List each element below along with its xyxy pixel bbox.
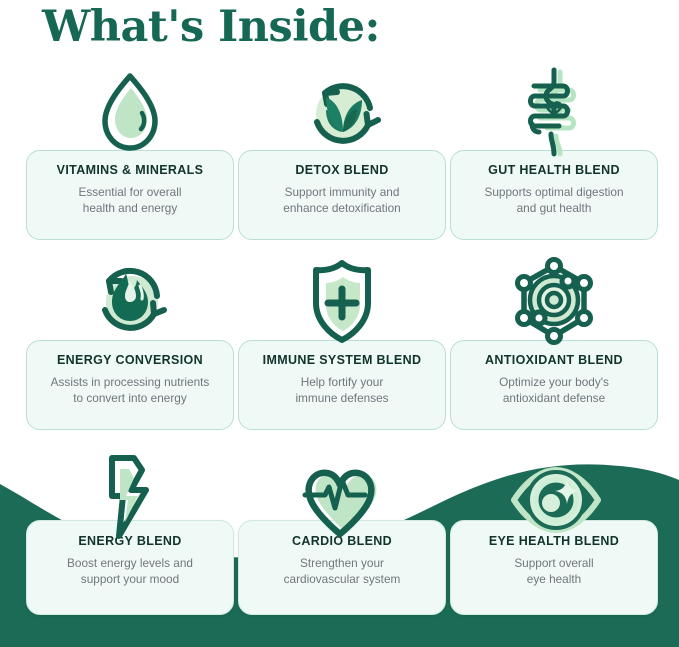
feature-cell-antioxidant-blend: ANTIOXIDANT BLEND Optimize your body's a… bbox=[450, 250, 658, 440]
card-description-line1: Support overall bbox=[514, 556, 593, 570]
card-description-line1: Support immunity and bbox=[285, 185, 400, 199]
feature-row-1: VITAMINS & MINERALS Essential for overal… bbox=[0, 60, 679, 250]
card-description-line1: Supports optimal digestion bbox=[484, 185, 623, 199]
water-droplet-icon bbox=[82, 64, 178, 160]
lightning-bolt-icon bbox=[82, 450, 178, 546]
card-description-line1: Essential for overall bbox=[79, 185, 182, 199]
card-description-line2: enhance detoxification bbox=[283, 201, 400, 215]
feature-cell-detox-blend: DETOX BLEND Support immunity and enhance… bbox=[238, 60, 446, 250]
card-description: Support immunity and enhance detoxificat… bbox=[277, 185, 406, 217]
card-description: Strengthen your cardiovascular system bbox=[278, 556, 407, 588]
card-description: Assists in processing nutrients to conve… bbox=[45, 375, 216, 407]
card-description: Supports optimal digestion and gut healt… bbox=[478, 185, 629, 217]
feature-card: VITAMINS & MINERALS Essential for overal… bbox=[26, 150, 234, 240]
page-title: What's Inside: bbox=[42, 2, 380, 52]
card-description-line2: health and energy bbox=[83, 201, 177, 215]
eye-sparkle-icon bbox=[506, 450, 602, 546]
card-description: Essential for overall health and energy bbox=[73, 185, 188, 217]
card-description-line1: Help fortify your bbox=[301, 375, 384, 389]
feature-cell-vitamins-minerals: VITAMINS & MINERALS Essential for overal… bbox=[26, 60, 234, 250]
card-description: Support overall eye health bbox=[508, 556, 599, 588]
card-title: GUT HEALTH BLEND bbox=[488, 164, 620, 178]
card-description: Help fortify your immune defenses bbox=[289, 375, 394, 407]
card-title: ANTIOXIDANT BLEND bbox=[485, 354, 623, 368]
card-description: Boost energy levels and support your moo… bbox=[61, 556, 199, 588]
card-description: Optimize your body's antioxidant defense bbox=[493, 375, 615, 407]
card-description-line2: eye health bbox=[527, 572, 581, 586]
feature-card: IMMUNE SYSTEM BLEND Help fortify your im… bbox=[238, 340, 446, 430]
feature-card: DETOX BLEND Support immunity and enhance… bbox=[238, 150, 446, 240]
feature-cell-immune-system-blend: IMMUNE SYSTEM BLEND Help fortify your im… bbox=[238, 250, 446, 440]
card-description-line2: cardiovascular system bbox=[284, 572, 401, 586]
card-description-line1: Strengthen your bbox=[300, 556, 384, 570]
card-description-line2: support your mood bbox=[81, 572, 179, 586]
feature-row-3: ENERGY BLEND Boost energy levels and sup… bbox=[0, 440, 679, 640]
feature-cell-eye-health-blend: EYE HEALTH BLEND Support overall eye hea… bbox=[450, 440, 658, 640]
card-title: IMMUNE SYSTEM BLEND bbox=[263, 354, 422, 368]
feature-cell-cardio-blend: CARDIO BLEND Strengthen your cardiovascu… bbox=[238, 440, 446, 640]
infographic-root: What's Inside: VITAMINS & MINERALS Essen… bbox=[0, 0, 679, 647]
intestines-heart-icon bbox=[506, 64, 602, 160]
card-description-line2: and gut health bbox=[517, 201, 592, 215]
card-description-line2: to convert into energy bbox=[73, 391, 186, 405]
feature-card: GUT HEALTH BLEND Supports optimal digest… bbox=[450, 150, 658, 240]
card-title: DETOX BLEND bbox=[295, 164, 388, 178]
feature-card: ENERGY CONVERSION Assists in processing … bbox=[26, 340, 234, 430]
card-title: ENERGY CONVERSION bbox=[57, 354, 203, 368]
shield-plus-icon bbox=[294, 254, 390, 350]
card-description-line1: Optimize your body's bbox=[499, 375, 609, 389]
feature-cell-gut-health-blend: GUT HEALTH BLEND Supports optimal digest… bbox=[450, 60, 658, 250]
flame-recycle-icon bbox=[82, 254, 178, 350]
card-description-line1: Boost energy levels and bbox=[67, 556, 193, 570]
detox-leaves-recycle-icon bbox=[294, 64, 390, 160]
feature-card: ANTIOXIDANT BLEND Optimize your body's a… bbox=[450, 340, 658, 430]
heart-pulse-icon bbox=[294, 450, 390, 546]
feature-cell-energy-blend: ENERGY BLEND Boost energy levels and sup… bbox=[26, 440, 234, 640]
card-title: VITAMINS & MINERALS bbox=[57, 164, 204, 178]
card-description-line2: antioxidant defense bbox=[503, 391, 605, 405]
molecule-hexagon-icon bbox=[506, 254, 602, 350]
card-description-line1: Assists in processing nutrients bbox=[51, 375, 210, 389]
card-description-line2: immune defenses bbox=[295, 391, 388, 405]
feature-row-2: ENERGY CONVERSION Assists in processing … bbox=[0, 250, 679, 440]
feature-cell-energy-conversion: ENERGY CONVERSION Assists in processing … bbox=[26, 250, 234, 440]
